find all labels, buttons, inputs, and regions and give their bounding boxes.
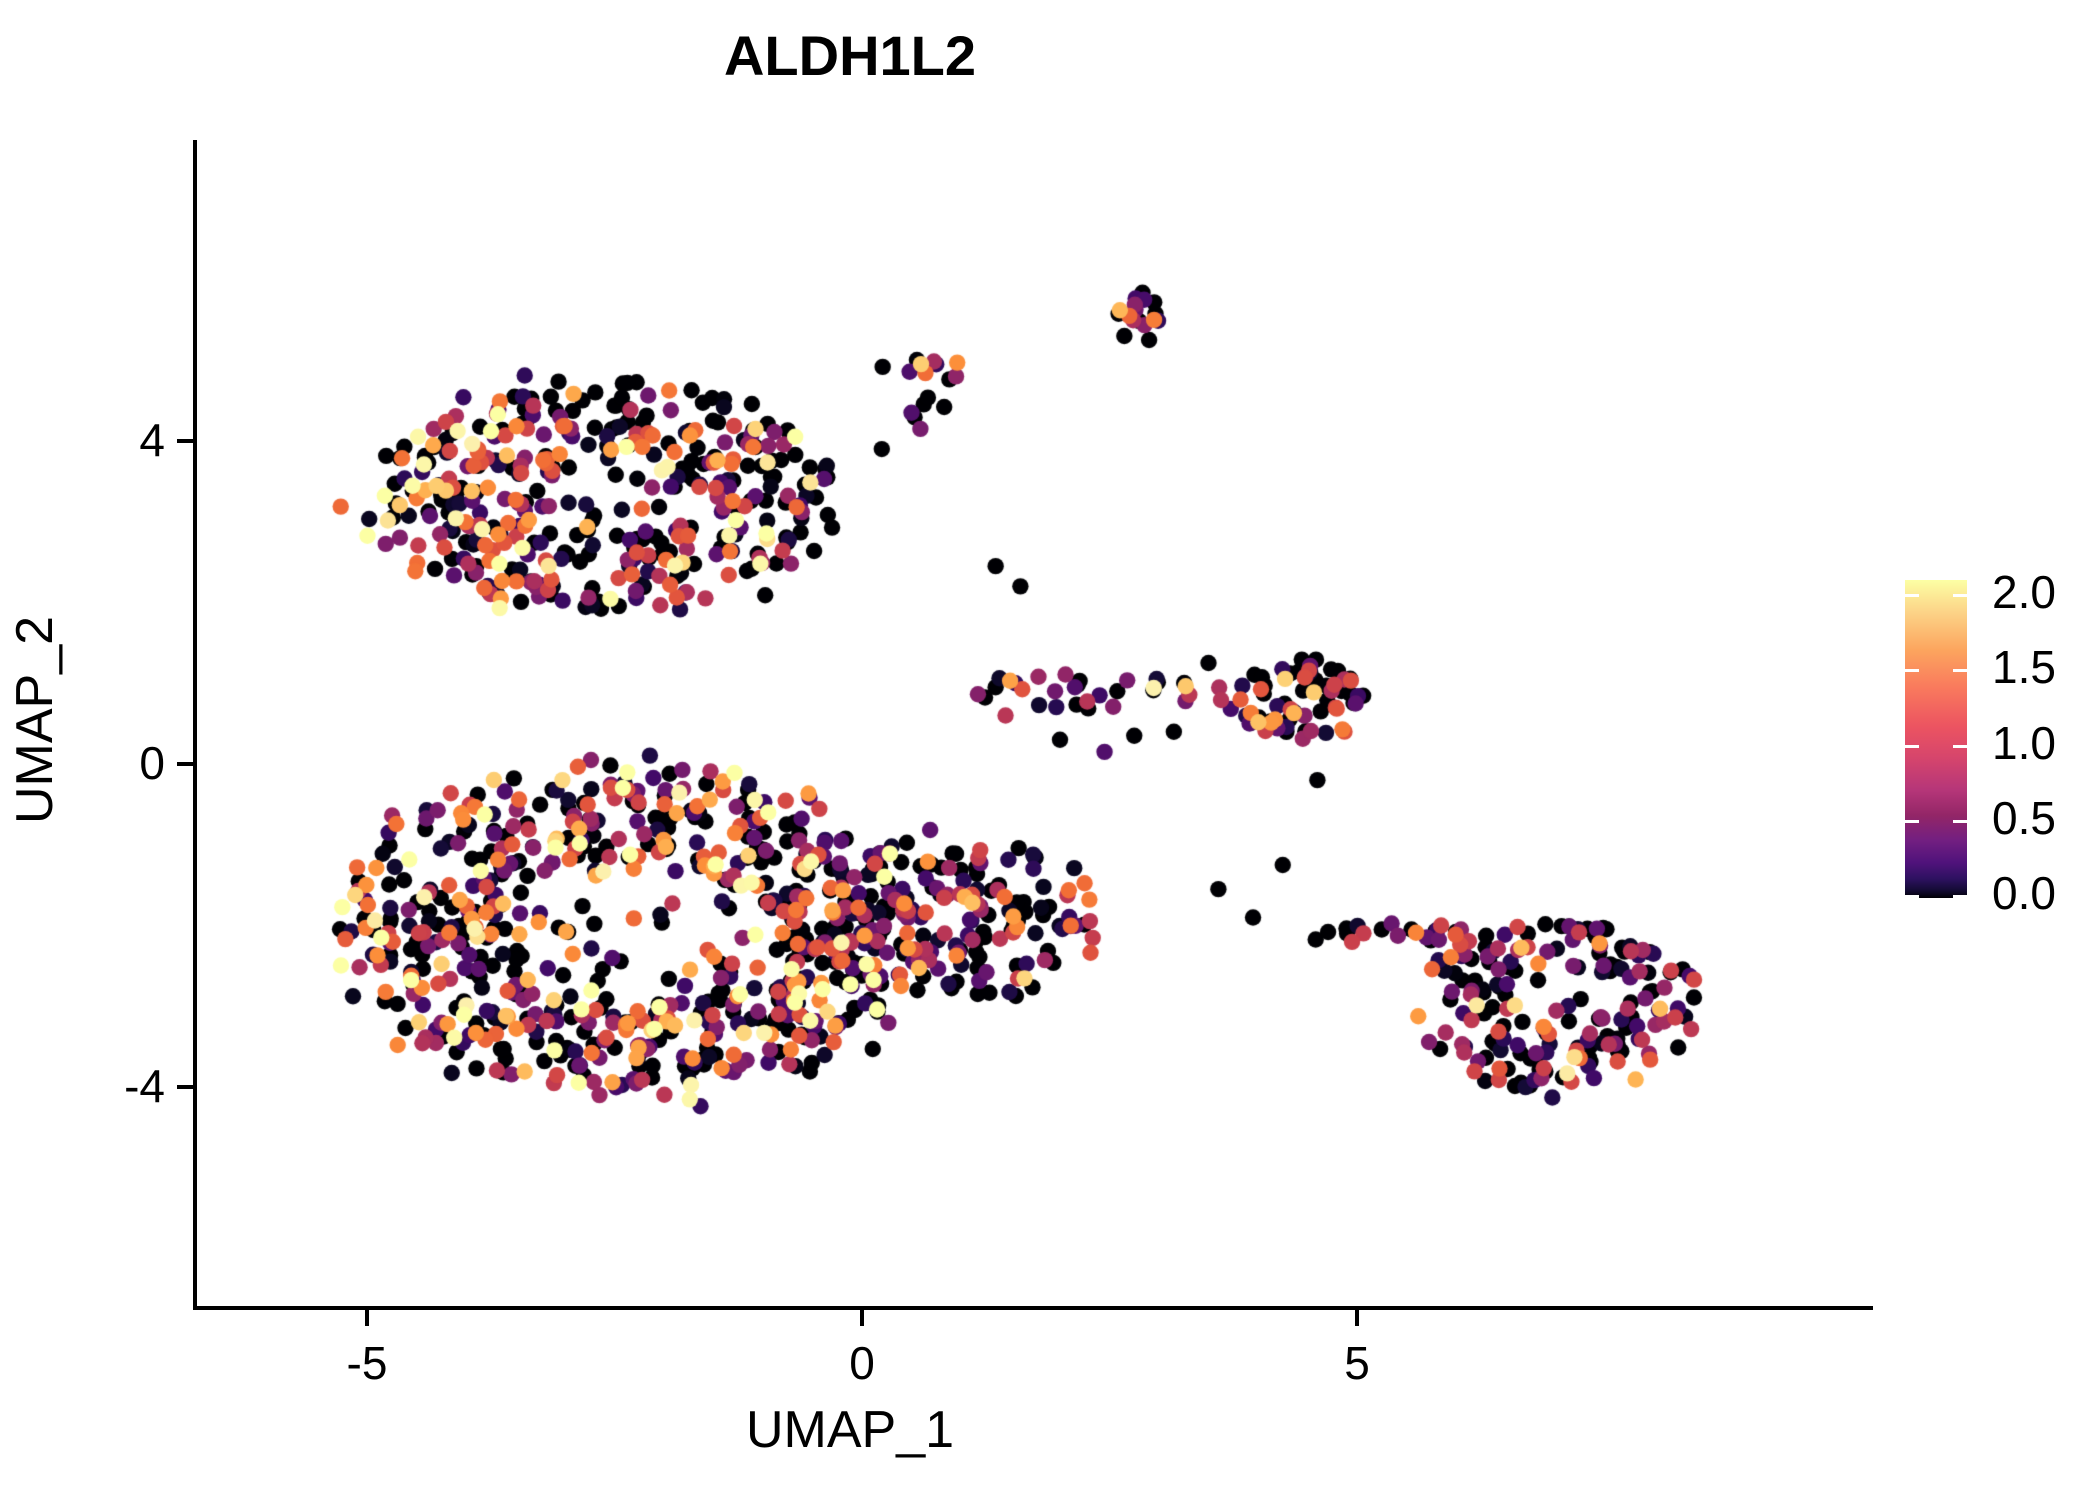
x-axis-title: UMAP_1	[0, 1400, 1700, 1460]
colorbar-label-2-0: 2.0	[1992, 569, 2056, 615]
colorbar-tick-0-0-left	[1905, 895, 1919, 898]
colorbar-tick-1-0-left	[1905, 745, 1919, 748]
x-tick-label-neg5: -5	[287, 1336, 447, 1390]
colorbar-label-1-0: 1.0	[1992, 720, 2056, 766]
y-axis-title: UMAP_2	[5, 420, 65, 1020]
colorbar-tick-2-0-right	[1953, 594, 1967, 597]
colorbar-label-0-0: 0.0	[1992, 870, 2056, 916]
scatter-plot-canvas	[0, 0, 2100, 1500]
colorbar-tick-1-0-right	[1953, 745, 1967, 748]
chart-root: ALDH1L2 4 0 -4 -5 0 5 UMAP_1 UMAP_2 2.0 …	[0, 0, 2100, 1500]
page-title: ALDH1L2	[0, 28, 1700, 84]
y-tick-neg4	[177, 1085, 193, 1089]
x-tick-label-5: 5	[1277, 1336, 1437, 1390]
colorbar-tick-0-5-right	[1953, 820, 1967, 823]
colorbar	[1905, 580, 1967, 898]
y-tick-0	[177, 762, 193, 766]
x-tick-label-0: 0	[782, 1336, 942, 1390]
colorbar-gradient	[1905, 580, 1967, 898]
y-tick-label-neg4: -4	[60, 1059, 165, 1113]
colorbar-tick-0-0-right	[1953, 895, 1967, 898]
colorbar-tick-1-5-right	[1953, 669, 1967, 672]
x-tick-0	[860, 1310, 864, 1326]
colorbar-tick-0-5-left	[1905, 820, 1919, 823]
colorbar-label-0-5: 0.5	[1992, 795, 2056, 841]
colorbar-tick-1-5-left	[1905, 669, 1919, 672]
y-tick-4	[177, 439, 193, 443]
x-axis-line	[193, 1306, 1873, 1310]
colorbar-label-1-5: 1.5	[1992, 644, 2056, 690]
y-tick-label-0: 0	[60, 736, 165, 790]
y-axis-line	[193, 140, 197, 1310]
x-tick-5	[1355, 1310, 1359, 1326]
y-tick-label-4: 4	[60, 413, 165, 467]
colorbar-tick-2-0-left	[1905, 594, 1919, 597]
x-tick-neg5	[365, 1310, 369, 1326]
